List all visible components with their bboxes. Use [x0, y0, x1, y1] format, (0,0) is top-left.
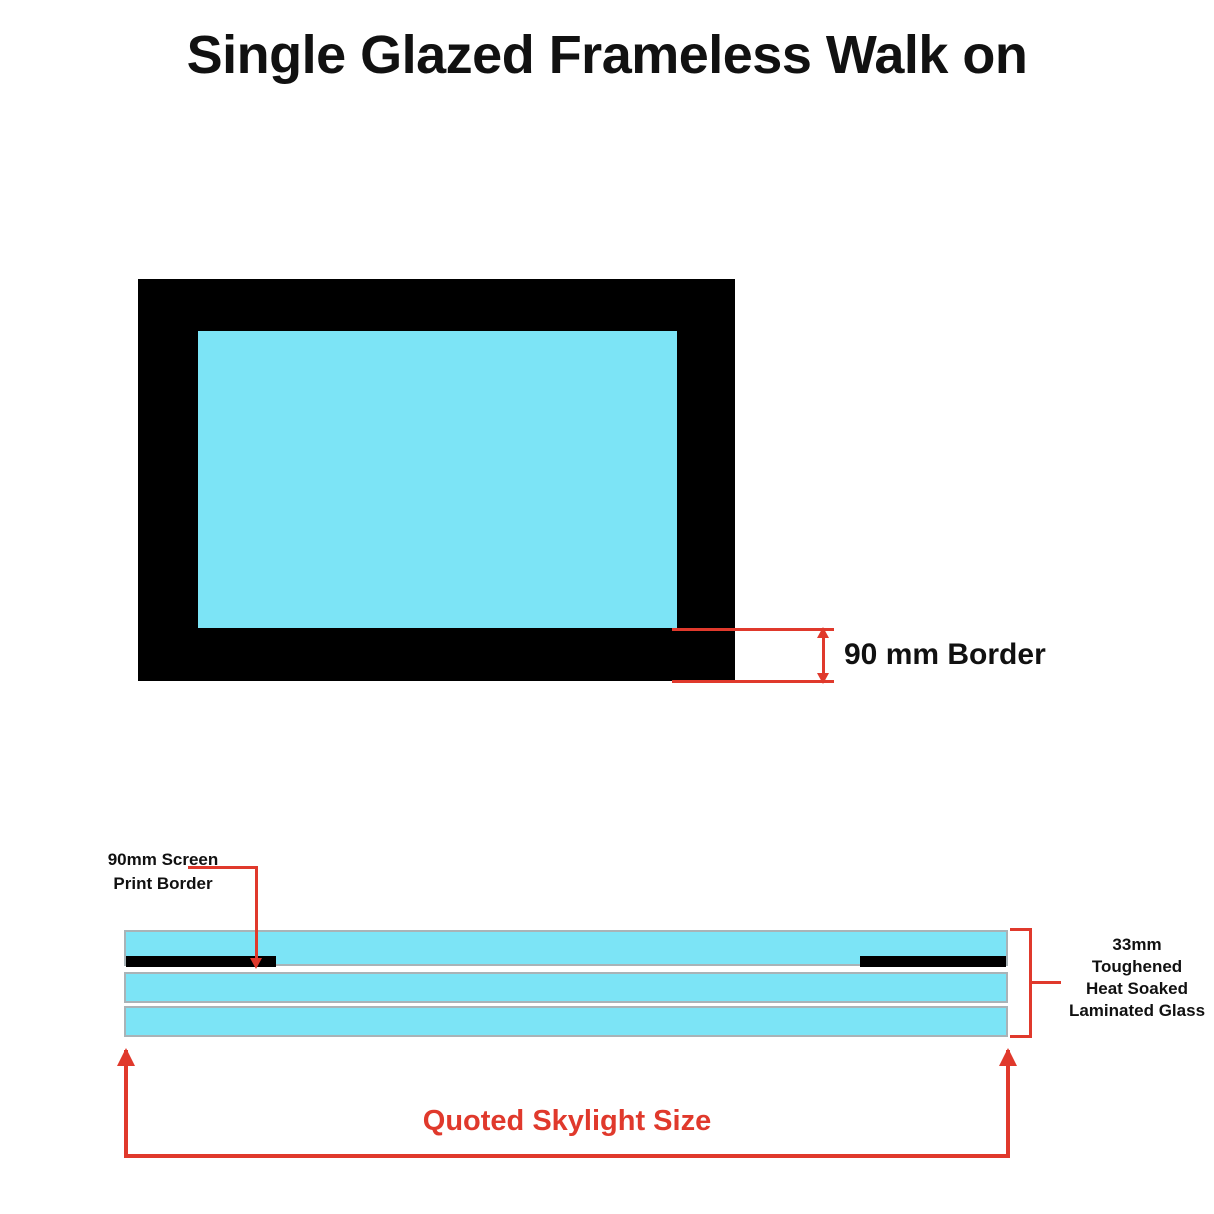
glass-thickness-label-line-4: Laminated Glass: [1062, 1000, 1212, 1022]
glass-thickness-callout: 33mm Toughened Heat Soaked Laminated Gla…: [1010, 928, 1214, 1040]
glass-thickness-label: 33mm Toughened Heat Soaked Laminated Gla…: [1062, 934, 1212, 1022]
quoted-size-riser-right: [1006, 1050, 1010, 1158]
glass-thickness-label-line-2: Toughened: [1062, 956, 1212, 978]
screen-print-bar-right: [860, 956, 1006, 967]
screen-print-border-label: 90mm Screen Print Border: [70, 848, 256, 896]
border-dimension-callout: 90 mm Border: [672, 620, 1052, 700]
glass-thickness-label-line-3: Heat Soaked: [1062, 978, 1212, 1000]
border-extension-line-top: [672, 628, 834, 631]
glass-thickness-label-line-1: 33mm: [1062, 934, 1212, 956]
quoted-size-callout: Quoted Skylight Size: [124, 1038, 1014, 1158]
plan-view-vision-glass: [198, 331, 677, 628]
screen-print-border-label-line-2: Print Border: [70, 872, 256, 896]
arrow-up-icon: [817, 627, 829, 638]
border-dimension-label: 90 mm Border: [844, 634, 1046, 676]
glass-layer-middle: [124, 972, 1008, 1003]
diagram-canvas: Single Glazed Frameless Walk on 90 mm Bo…: [0, 0, 1214, 1214]
skylight-plan-view: [138, 279, 735, 681]
glass-layer-bottom: [124, 1006, 1008, 1037]
border-dimension-arrow: [822, 628, 825, 683]
quoted-size-riser-left: [124, 1050, 128, 1158]
screen-print-border-callout: 90mm Screen Print Border: [70, 848, 320, 968]
arrow-down-icon: [250, 958, 262, 969]
leader-line-vertical: [255, 866, 258, 960]
leader-line-horizontal: [188, 866, 258, 869]
glass-thickness-bracket: [1010, 928, 1032, 1038]
arrow-down-icon: [817, 673, 829, 684]
arrow-up-icon: [117, 1048, 135, 1066]
quoted-size-label: Quoted Skylight Size: [124, 1105, 1010, 1138]
border-extension-line-bottom: [672, 680, 834, 683]
arrow-up-icon: [999, 1048, 1017, 1066]
glass-thickness-bracket-stem: [1031, 981, 1061, 984]
page-title: Single Glazed Frameless Walk on: [0, 26, 1214, 85]
quoted-size-baseline: [124, 1154, 1010, 1158]
